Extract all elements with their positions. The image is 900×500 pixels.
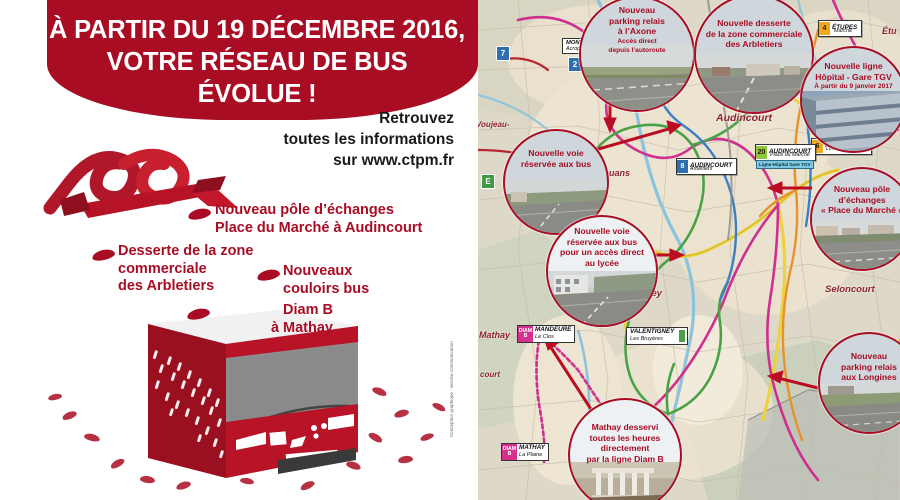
photo-place-marche bbox=[812, 221, 900, 269]
bullet-line: à Mathay bbox=[213, 320, 333, 338]
callout-parking-longines[interactable]: Nouveau parking relais aux Longines bbox=[818, 332, 900, 434]
bullet-dot-icon bbox=[187, 207, 212, 222]
stop-name: VALENTIGNEY Les Bruyères bbox=[627, 328, 677, 344]
route-badge: 4 bbox=[819, 22, 830, 35]
callout-caption: Nouveau parking relais à l’Axone Accès d… bbox=[581, 0, 693, 55]
photo-lycee bbox=[548, 271, 656, 325]
photo-axone bbox=[581, 45, 693, 110]
photo-mathay bbox=[570, 462, 680, 500]
bullet-line: Nouveaux bbox=[283, 263, 413, 281]
bullet-dot-icon bbox=[91, 248, 116, 263]
bullet-list: Nouveau pôle d’échanges Place du Marché … bbox=[0, 0, 478, 500]
callout-caption: Nouvelle desserte de la zone commerciale… bbox=[696, 0, 812, 50]
callout-parking-axone[interactable]: Nouveau parking relais à l’Axone Accès d… bbox=[579, 0, 695, 112]
ligne-hopital-gare-tag: Ligne Hôpital Gare TGV bbox=[756, 160, 814, 169]
callout-desserte-arbletiers[interactable]: Nouvelle desserte de la zone commerciale… bbox=[694, 0, 814, 114]
stop-place-marche-sub: Place du Marché bbox=[770, 152, 810, 158]
stop-arbletiers-sub: Arbletiers bbox=[690, 166, 712, 172]
callout-caption: Nouvelle voie réservée aux bus pour un a… bbox=[548, 217, 656, 268]
bullet-line: Nouveau pôle d’échanges bbox=[215, 202, 465, 220]
stop-name: MANDEURE Le Clos bbox=[533, 326, 574, 342]
bullet-line: des Arbletiers bbox=[118, 278, 268, 296]
map-panel[interactable]: Sochaux Audincourt Étu Valentigney Selon… bbox=[478, 0, 900, 500]
bullet-item-pole-echanges: Nouveau pôle d’échanges Place du Marché … bbox=[215, 202, 465, 237]
stop-mandeure-le-clos[interactable]: DIAMB MANDEURE Le Clos bbox=[517, 325, 575, 343]
bullet-item-couloirs-bus: Nouveaux couloirs bus bbox=[283, 263, 413, 298]
route-badge: 20 bbox=[756, 146, 767, 159]
callout-caption: Nouvelle voie réservée aux bus bbox=[505, 131, 607, 169]
credit-line: Conception graphique : service communica… bbox=[449, 341, 454, 437]
bullet-line: Desserte de la zone bbox=[118, 243, 268, 261]
route-number-e2[interactable]: E bbox=[481, 174, 495, 189]
bullet-dot-icon bbox=[186, 307, 211, 322]
bullet-line: couloirs bus bbox=[283, 281, 413, 299]
photo-longines bbox=[820, 383, 900, 432]
callout-caption: Mathay desservi toutes les heures direct… bbox=[570, 400, 680, 464]
diam-line-badge: DIAMB bbox=[518, 326, 533, 342]
stop-mathay-la-plaine[interactable]: DIAMB MATHAY La Plaine bbox=[501, 443, 549, 461]
bullet-item-desserte-arbletiers: Desserte de la zone commerciale des Arbl… bbox=[118, 243, 268, 296]
route-number-7b[interactable]: 7 bbox=[496, 46, 510, 61]
bullet-item-diam-b-mathay: Diam B à Mathay bbox=[213, 302, 333, 337]
bullet-line: Place du Marché à Audincourt bbox=[215, 220, 465, 238]
callout-caption: Nouveau pôle d’échanges « Place du March… bbox=[812, 169, 900, 216]
photo-hopital bbox=[802, 91, 900, 151]
stop-valentigney-bruyeres[interactable]: VALENTIGNEY Les Bruyères bbox=[626, 327, 688, 345]
callout-mathay-diam-b[interactable]: Mathay desservi toutes les heures direct… bbox=[568, 398, 682, 500]
bullet-line: Diam B bbox=[213, 302, 333, 320]
stop-etupes-sub: Marché bbox=[834, 28, 852, 34]
poster-panel: À PARTIR DU 19 DÉCEMBRE 2016, VOTRE RÉSE… bbox=[0, 0, 478, 500]
diam-line-badge: DIAMB bbox=[502, 444, 517, 460]
photo-arbletiers bbox=[696, 54, 812, 112]
stop-name: MATHAY La Plaine bbox=[517, 444, 548, 460]
route-badge: 8 bbox=[677, 160, 688, 173]
callout-caption: Nouvelle ligne Hôpital - Gare TGV À part… bbox=[802, 48, 900, 91]
callout-pole-echanges-marche[interactable]: Nouveau pôle d’échanges « Place du March… bbox=[810, 167, 900, 271]
callout-voie-reservee-lycee[interactable]: Nouvelle voie réservée aux bus pour un a… bbox=[546, 215, 658, 327]
callout-ligne-hopital-gare-tgv[interactable]: Nouvelle ligne Hôpital - Gare TGV À part… bbox=[800, 46, 900, 153]
green-line-marker bbox=[679, 330, 685, 342]
poster-root: À PARTIR DU 19 DÉCEMBRE 2016, VOTRE RÉSE… bbox=[0, 0, 900, 500]
bullet-line: commerciale bbox=[118, 261, 268, 279]
callout-caption: Nouveau parking relais aux Longines bbox=[820, 334, 900, 383]
